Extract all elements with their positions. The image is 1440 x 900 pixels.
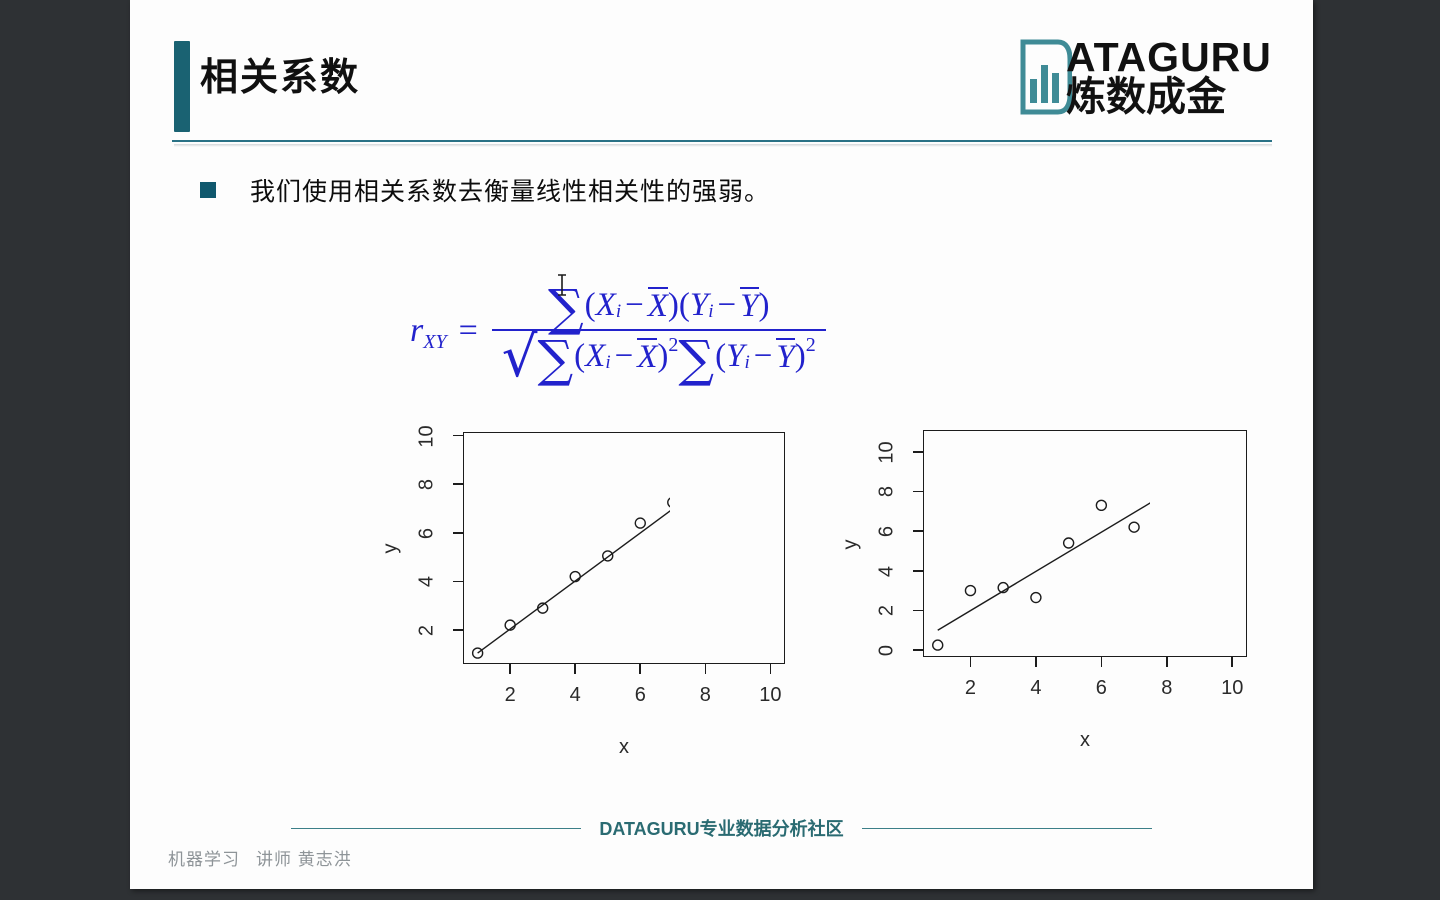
formula-lhs: rXY [410,314,447,348]
y-tick-label: 0 [876,631,899,671]
y-tick-label: 8 [876,472,899,512]
y-axis-title: y [840,524,863,564]
y-tick-mark [453,435,463,437]
footer-meta: 机器学习讲师 黄志洪 [168,845,352,870]
x-bar: X [648,287,668,323]
formula-r-symbol: r [410,314,423,348]
y-tick-mark [913,491,923,493]
formula-r-subscript: XY [423,332,446,352]
y-tick-mark [913,451,923,453]
y-tick-mark [453,483,463,485]
sigma-icon-2: ∑ [537,339,573,379]
scatter-plot-strong-correlation: 246810246810xy [270,410,670,760]
minus-sign2: − [718,287,737,324]
bullet-square-marker [200,182,216,198]
plot-frame [923,430,1247,657]
footer-brand-row: DATAGURU专业数据分析社区 [130,815,1313,841]
y-tick-label: 10 [416,416,439,456]
header-divider [172,140,1272,142]
y-tick-mark [913,610,923,612]
footer-line-left [291,828,581,829]
x-tick-mark [970,657,972,667]
sqrt-icon: √ [502,337,538,379]
i-sub4: i [744,352,749,374]
screen: 相关系数 ATAGURU 炼数成金 我们使用相关系数去衡量线性相关性的强弱。 [0,0,1440,900]
minus-sign3: − [615,338,634,375]
formula-numerator: ∑(Xi−X)(Yi−Y) [538,285,780,329]
y-tick-label: 4 [876,551,899,591]
y-tick-mark [453,581,463,583]
y-var: Y [690,287,708,324]
y-bar: Y [740,287,758,323]
x-var: X [596,287,616,324]
rparen3: ) [657,338,668,375]
x-tick-label: 2 [950,677,990,700]
x-bar2: X [637,338,657,374]
lparen: ( [585,287,596,324]
x-tick-label: 4 [1016,677,1056,700]
header-divider-shadow [174,144,1272,147]
x-tick-mark [574,664,576,674]
x-tick-mark [1231,657,1233,667]
x-axis-title: x [604,736,644,759]
rparen2: ) [759,287,770,324]
lparen3: ( [574,338,585,375]
formula-equals-sign: = [459,312,478,350]
footer-instructor: 讲师 黄志洪 [256,850,352,869]
x-tick-label: 8 [1147,677,1187,700]
y-tick-mark [453,629,463,631]
dataguru-bar-chart-logo-icon [1020,39,1072,115]
x-tick-mark [639,664,641,674]
presentation-slide: 相关系数 ATAGURU 炼数成金 我们使用相关系数去衡量线性相关性的强弱。 [130,0,1313,889]
x-tick-mark [1035,657,1037,667]
y-var2: Y [726,338,744,375]
bullet-text: 我们使用相关系数去衡量线性相关性的强弱。 [250,172,770,208]
x-tick-label: 2 [490,684,530,707]
logo-text: ATAGURU 炼数成金 [1066,35,1272,118]
y-axis-title: y [380,529,403,569]
sigma-icon-3: ∑ [678,339,714,379]
minus-sign4: − [754,338,773,375]
y-bar2: Y [776,338,794,374]
plot-frame [463,432,785,664]
logo-chinese-text: 炼数成金 [1066,76,1272,118]
y-tick-mark [453,532,463,534]
y-tick-label: 6 [416,513,439,553]
page-title: 相关系数 [200,55,360,103]
y-tick-mark [913,570,923,572]
bullet-item: 我们使用相关系数去衡量线性相关性的强弱。 [200,172,770,208]
rparen: ) [668,287,679,324]
x-tick-mark [705,664,707,674]
y-tick-label: 2 [416,610,439,650]
i-sub2: i [708,301,713,323]
footer-course-name: 机器学习 [168,850,240,869]
x-tick-label: 6 [1081,677,1121,700]
y-tick-label: 8 [416,465,439,505]
y-tick-mark [913,649,923,651]
x-tick-label: 4 [555,684,595,707]
x-var2: X [585,338,605,375]
x-tick-label: 10 [1212,677,1252,700]
i-sub3: i [605,352,610,374]
formula-denominator: √∑(Xi−X)2∑(Yi−Y)2 [492,331,826,377]
scatter-plot-moderate-correlation: 2468100246810xy [750,410,1150,760]
formula-fraction: ∑(Xi−X)(Yi−Y) √∑(Xi−X)2∑(Yi−Y)2 [492,285,826,377]
power-2: 2 [668,334,678,357]
i-sub: i [616,301,621,323]
correlation-coefficient-formula: rXY = ∑(Xi−X)(Yi−Y) √∑(Xi−X)2∑(Yi−Y)2 [410,285,826,377]
text-ibeam-cursor [556,274,568,296]
x-axis-title: x [1065,729,1105,752]
y-tick-label: 4 [416,562,439,602]
footer-line-right [862,828,1152,829]
x-tick-label: 8 [685,684,725,707]
minus-sign: − [625,287,644,324]
rparen4: ) [795,338,806,375]
lparen4: ( [715,338,726,375]
y-tick-label: 6 [876,512,899,552]
x-tick-mark [1166,657,1168,667]
lparen2: ( [679,287,690,324]
x-tick-mark [509,664,511,674]
y-tick-label: 10 [876,432,899,472]
x-tick-mark [1101,657,1103,667]
dataguru-logo: ATAGURU 炼数成金 [1020,35,1270,121]
logo-english-text: ATAGURU [1066,35,1272,79]
footer-brand-text: DATAGURU专业数据分析社区 [599,815,843,841]
power-2b: 2 [806,334,816,357]
y-tick-mark [913,530,923,532]
x-tick-label: 6 [620,684,660,707]
y-tick-label: 2 [876,591,899,631]
title-accent-bar [174,41,190,132]
